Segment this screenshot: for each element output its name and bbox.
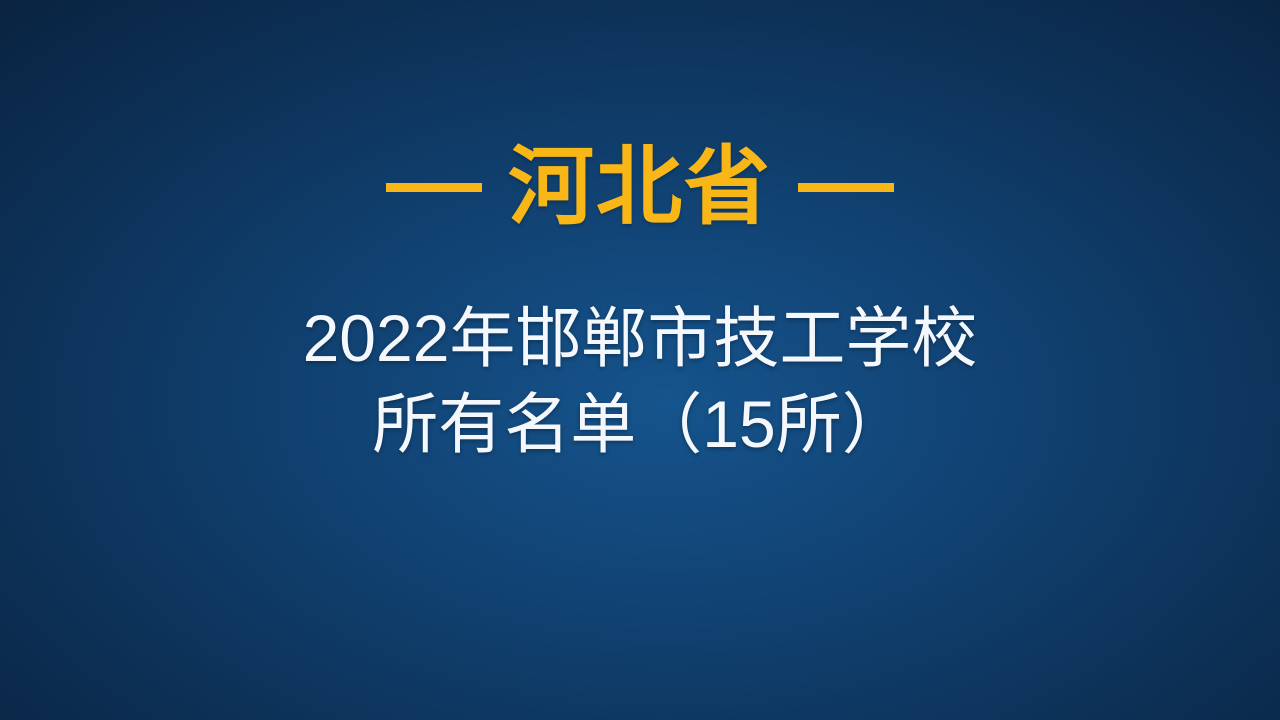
subtitle-line-2: 所有名单（15所） (0, 382, 1280, 468)
heading-title: 河北省 (508, 144, 772, 230)
subtitle-line-1: 2022年邯郸市技工学校 (0, 296, 1280, 382)
presentation-slide: 河北省 2022年邯郸市技工学校 所有名单（15所） (0, 0, 1280, 720)
heading-left-rule-icon (386, 183, 482, 192)
slide-heading: 河北省 (0, 132, 1280, 242)
heading-right-rule-icon (798, 183, 894, 192)
slide-subtitle: 2022年邯郸市技工学校 所有名单（15所） (0, 296, 1280, 468)
